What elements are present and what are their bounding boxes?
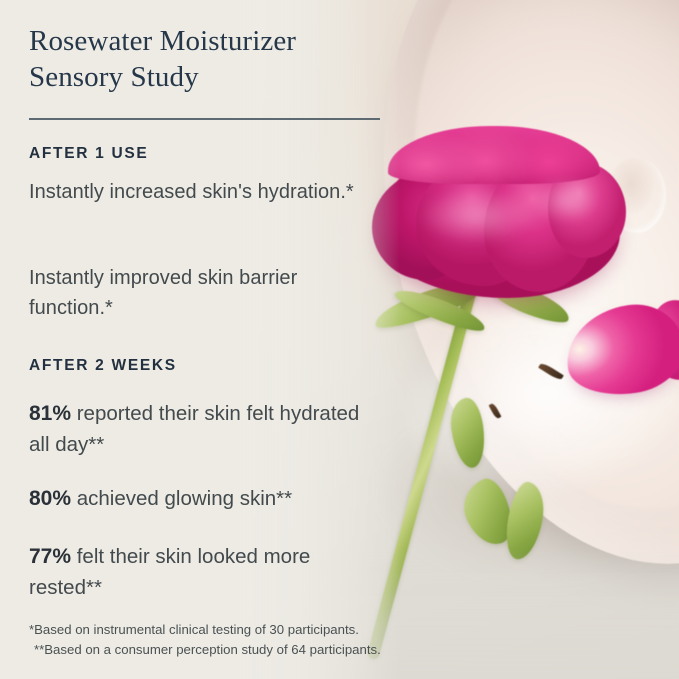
section-heading-after-2-weeks: AFTER 2 WEEKS	[29, 357, 177, 375]
stat-glowing-skin: 80% achieved glowing skin**	[29, 483, 369, 514]
stat-value: 80%	[29, 487, 71, 510]
title-divider	[29, 118, 380, 120]
page-title-line-1: Rosewater Moisturizer	[29, 25, 296, 57]
stat-label: achieved glowing skin**	[71, 487, 292, 510]
stat-hydrated-all-day: 81% reported their skin felt hydrated al…	[29, 398, 369, 460]
stat-value: 81%	[29, 402, 71, 425]
rosewater-moisturizer-infographic: Rosewater Moisturizer Sensory Study AFTE…	[0, 0, 679, 679]
page-title-line-2: Sensory Study	[29, 61, 199, 93]
text-content: Rosewater Moisturizer Sensory Study AFTE…	[0, 0, 679, 679]
footnote-double-asterisk: **Based on a consumer perception study o…	[29, 640, 459, 660]
stat-more-rested: 77% felt their skin looked more rested**	[29, 541, 369, 603]
stat-label: reported their skin felt hydrated all da…	[29, 402, 359, 456]
footnote-single-asterisk: *Based on instrumental clinical testing …	[29, 620, 459, 640]
page-title: Rosewater Moisturizer Sensory Study	[29, 23, 409, 95]
section-heading-after-1-use: AFTER 1 USE	[29, 145, 148, 163]
claim-skin-barrier: Instantly improved skin barrier function…	[29, 263, 369, 323]
stat-value: 77%	[29, 545, 71, 568]
stat-label: felt their skin looked more rested**	[29, 545, 310, 599]
claim-hydration: Instantly increased skin's hydration.*	[29, 177, 369, 207]
footnotes: *Based on instrumental clinical testing …	[29, 620, 459, 660]
